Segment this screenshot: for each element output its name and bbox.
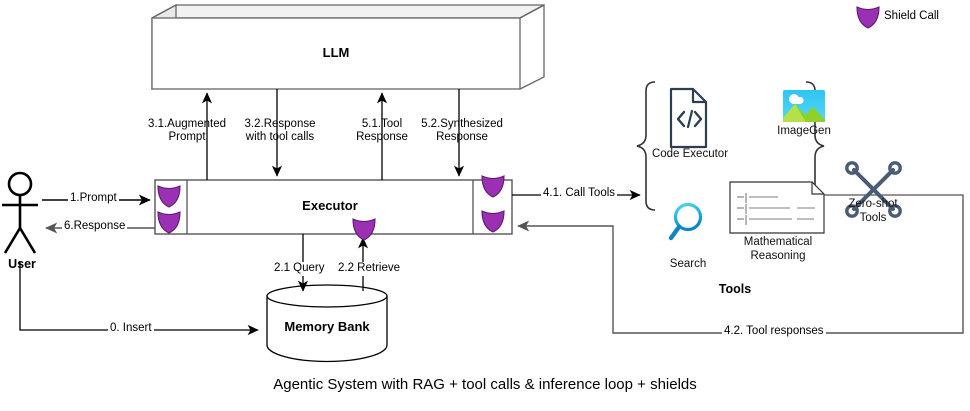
edge-label-insert: 0. Insert [108,322,154,336]
llm-label: LLM [152,46,520,60]
code-document-icon [671,89,706,147]
image-photo-icon [783,90,825,122]
tool-label-zero-shot-tools: Zero-shot Tools [838,198,908,225]
tool-label-mathematical-reasoning: Mathematical Reasoning [731,236,825,263]
edge-label-augmented-prompt-line1: 3.1.Augmented [142,118,232,132]
shield-icon [353,219,375,240]
tool-label-code-executor: Code Executor [645,148,735,162]
user-node [2,173,38,253]
user-label: User [2,258,42,272]
diagram-vector-layer [0,0,970,411]
edge-label-call-tools: 4.1. Call Tools [541,187,617,201]
legend-label: Shield Call [884,10,939,24]
edge-label-prompt: 1.Prompt [68,192,119,206]
edge-label-retrieve: 2.2 Retrieve [336,262,402,276]
edge-label-tool-calls-line1: 3.2.Response [232,118,328,132]
diagram-canvas: LLM Executor Memory Bank User 1.Prompt 6… [0,0,970,411]
tool-label-search: Search [659,258,717,272]
executor-label: Executor [187,199,473,213]
edge-label-tool-responses: 4.2. Tool responses [722,325,826,339]
edge-label-tool-response-line1: 5.1.Tool [340,118,424,132]
memory-bank-label: Memory Bank [267,320,387,334]
edge-insert [20,262,258,330]
edge-label-query: 2.1 Query [272,262,327,276]
edge-label-synthesized-line1: 5.2.Synthesized [415,118,509,132]
tool-label-imagegen: ImageGen [766,125,842,139]
legend-shield-icon [857,7,879,28]
tools-group-label: Tools [655,283,815,297]
diagram-caption: Agentic System with RAG + tool calls & i… [0,376,970,393]
edge-label-tool-calls-line2: with tool calls [232,131,328,145]
formula-document-icon [730,182,824,233]
edge-label-augmented-prompt-line2: Prompt [142,131,232,145]
magnifier-icon [671,205,701,239]
edge-label-synthesized-line2: Response [415,131,509,145]
edge-label-response: 6.Response [62,220,127,234]
edge-label-tool-response-line2: Response [340,131,424,145]
